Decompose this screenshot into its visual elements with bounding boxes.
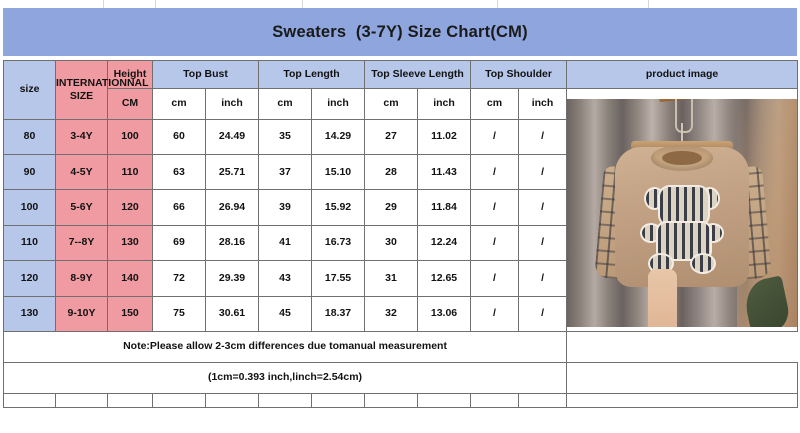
cell-sleeve-cm: 31 xyxy=(365,261,418,296)
note-conversion: (1cm=0.393 inch,linch=2.54cm) xyxy=(4,363,567,394)
cell-size: 100 xyxy=(4,190,56,225)
cell-intl-size: 7--8Y xyxy=(56,225,108,260)
size-chart-sheet: Sweaters (3-7Y) Size Chart(CM) size INTE… xyxy=(0,0,800,433)
cell-size: 90 xyxy=(4,155,56,190)
cell-length-cm: 43 xyxy=(259,261,312,296)
product-photo xyxy=(567,89,797,331)
cell-bust-inch: 24.49 xyxy=(206,119,259,154)
cell-size: 110 xyxy=(4,225,56,260)
photo-top-edge xyxy=(567,89,797,99)
cell-bust-cm: 60 xyxy=(153,119,206,154)
cell-sleeve-cm: 32 xyxy=(365,296,418,331)
table-header-row-primary: size INTERNATIONNAL SIZE Height Top Bust… xyxy=(4,61,798,89)
chart-title-bar: Sweaters (3-7Y) Size Chart(CM) xyxy=(3,8,797,56)
cell-intl-size: 4-5Y xyxy=(56,155,108,190)
bear-leg-right xyxy=(690,253,716,274)
cell-height: 140 xyxy=(108,261,153,296)
header-shoulder-cm: cm xyxy=(471,89,519,120)
sweater-neck-opening xyxy=(662,151,701,165)
cell-intl-size: 8-9Y xyxy=(56,261,108,296)
header-size: size xyxy=(4,61,56,120)
cell-shoulder-inch: / xyxy=(519,155,567,190)
header-height-unit: CM xyxy=(108,89,153,120)
cell-sleeve-inch: 11.02 xyxy=(418,119,471,154)
note-row-measurement: Note:Please allow 2-3cm differences due … xyxy=(4,332,798,363)
page-title: Sweaters (3-7Y) Size Chart(CM) xyxy=(272,23,528,42)
cell-sleeve-inch: 12.24 xyxy=(418,225,471,260)
cell-size: 130 xyxy=(4,296,56,331)
hanger-hook-icon xyxy=(675,95,693,133)
cell-shoulder-cm: / xyxy=(471,155,519,190)
cell-bust-cm: 69 xyxy=(153,225,206,260)
cell-sleeve-inch: 11.84 xyxy=(418,190,471,225)
header-bust-cm: cm xyxy=(153,89,206,120)
cell-sleeve-cm: 27 xyxy=(365,119,418,154)
tail-cell-6 xyxy=(259,394,312,408)
cell-length-cm: 41 xyxy=(259,225,312,260)
cell-bust-cm: 75 xyxy=(153,296,206,331)
tail-cell-3 xyxy=(108,394,153,408)
cell-length-cm: 45 xyxy=(259,296,312,331)
cell-shoulder-cm: / xyxy=(471,119,519,154)
cell-shoulder-inch: / xyxy=(519,119,567,154)
cell-shoulder-inch: / xyxy=(519,225,567,260)
cell-height: 110 xyxy=(108,155,153,190)
tail-cell-12 xyxy=(567,394,798,408)
cell-height: 150 xyxy=(108,296,153,331)
tail-cell-4 xyxy=(153,394,206,408)
cell-length-cm: 39 xyxy=(259,190,312,225)
header-top-bust: Top Bust xyxy=(153,61,259,89)
top-column-ruler xyxy=(0,0,800,8)
cell-shoulder-cm: / xyxy=(471,261,519,296)
cell-sleeve-inch: 13.06 xyxy=(418,296,471,331)
tail-cell-11 xyxy=(519,394,567,408)
cell-height: 100 xyxy=(108,119,153,154)
header-sleeve-cm: cm xyxy=(365,89,418,120)
header-top-length: Top Length xyxy=(259,61,365,89)
cell-sleeve-cm: 29 xyxy=(365,190,418,225)
cell-intl-size: 5-6Y xyxy=(56,190,108,225)
cell-shoulder-cm: / xyxy=(471,190,519,225)
cell-length-cm: 35 xyxy=(259,119,312,154)
cell-sleeve-inch: 11.43 xyxy=(418,155,471,190)
cell-size: 80 xyxy=(4,119,56,154)
cell-bust-inch: 25.71 xyxy=(206,155,259,190)
table-tail-row xyxy=(4,394,798,408)
cell-length-inch: 15.92 xyxy=(312,190,365,225)
cell-length-inch: 18.37 xyxy=(312,296,365,331)
photo-bottom-edge xyxy=(567,327,797,331)
cell-bust-inch: 30.61 xyxy=(206,296,259,331)
cell-shoulder-cm: / xyxy=(471,225,519,260)
tail-cell-1 xyxy=(4,394,56,408)
cell-sleeve-cm: 30 xyxy=(365,225,418,260)
cell-shoulder-inch: / xyxy=(519,190,567,225)
header-bust-inch: inch xyxy=(206,89,259,120)
cell-shoulder-cm: / xyxy=(471,296,519,331)
note-row-conversion: (1cm=0.393 inch,linch=2.54cm) xyxy=(4,363,798,394)
header-sleeve-inch: inch xyxy=(418,89,471,120)
note-measurement: Note:Please allow 2-3cm differences due … xyxy=(4,332,567,363)
cell-sleeve-cm: 28 xyxy=(365,155,418,190)
cell-shoulder-inch: / xyxy=(519,296,567,331)
size-chart-table: size INTERNATIONNAL SIZE Height Top Bust… xyxy=(3,60,798,408)
tail-cell-7 xyxy=(312,394,365,408)
cell-bust-inch: 26.94 xyxy=(206,190,259,225)
cell-sleeve-inch: 12.65 xyxy=(418,261,471,296)
header-length-cm: cm xyxy=(259,89,312,120)
header-top-shoulder: Top Shoulder xyxy=(471,61,567,89)
cell-length-cm: 37 xyxy=(259,155,312,190)
cell-intl-size: 3-4Y xyxy=(56,119,108,154)
model-arm xyxy=(648,269,678,331)
cell-height: 130 xyxy=(108,225,153,260)
table-header-row-units: CM cm inch cm inch cm inch cm inch xyxy=(4,89,798,120)
cell-shoulder-inch: / xyxy=(519,261,567,296)
header-shoulder-inch: inch xyxy=(519,89,567,120)
cell-length-inch: 15.10 xyxy=(312,155,365,190)
header-length-inch: inch xyxy=(312,89,365,120)
header-international-size: INTERNATIONNAL SIZE xyxy=(56,61,108,120)
cell-bust-cm: 66 xyxy=(153,190,206,225)
spacer-cell-conversion xyxy=(567,363,798,394)
cell-bust-cm: 63 xyxy=(153,155,206,190)
tail-cell-8 xyxy=(365,394,418,408)
cell-bust-inch: 29.39 xyxy=(206,261,259,296)
teddy-bear-applique xyxy=(642,183,722,279)
cell-intl-size: 9-10Y xyxy=(56,296,108,331)
cell-length-inch: 14.29 xyxy=(312,119,365,154)
cell-size: 120 xyxy=(4,261,56,296)
cell-length-inch: 17.55 xyxy=(312,261,365,296)
cell-bust-inch: 28.16 xyxy=(206,225,259,260)
tail-cell-2 xyxy=(56,394,108,408)
tail-cell-5 xyxy=(206,394,259,408)
cell-bust-cm: 72 xyxy=(153,261,206,296)
product-image-cell xyxy=(567,89,798,332)
cell-length-inch: 16.73 xyxy=(312,225,365,260)
cell-height: 120 xyxy=(108,190,153,225)
header-top-sleeve-length: Top Sleeve Length xyxy=(365,61,471,89)
tail-cell-10 xyxy=(471,394,519,408)
tail-cell-9 xyxy=(418,394,471,408)
header-product-image: product image xyxy=(567,61,798,89)
